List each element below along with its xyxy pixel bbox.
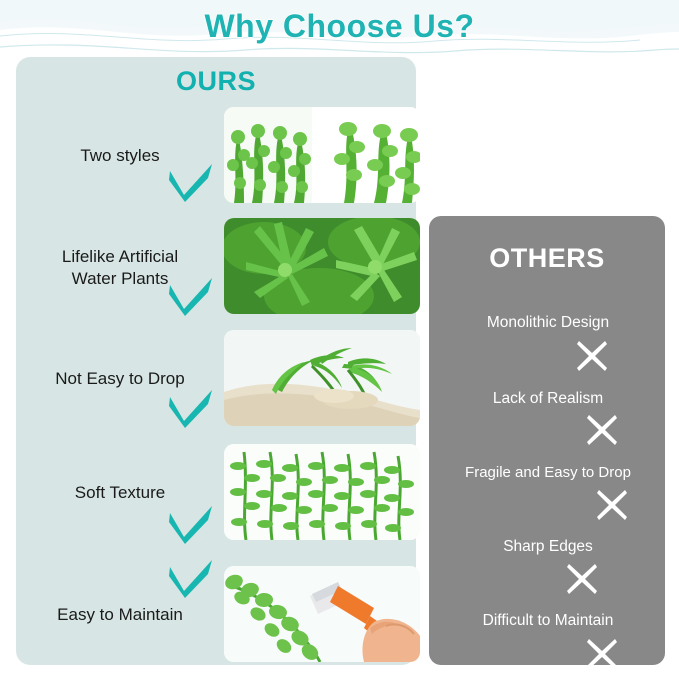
others-panel [429,216,665,665]
check-icon [168,558,214,598]
ours-heading: OURS [16,66,416,97]
ours-row-photo [224,218,420,314]
ours-row-photo [224,107,420,203]
others-row-label: Lack of Realism [437,389,659,409]
others-heading: OTHERS [429,243,665,274]
others-row-label: Fragile and Easy to Drop [437,463,659,483]
cross-icon [595,488,629,522]
cross-icon [585,413,619,447]
cross-icon [585,637,619,671]
others-row-label: Sharp Edges [437,537,659,557]
ours-row-label: Soft Texture [28,482,212,504]
check-icon [168,388,214,428]
check-icon [168,276,214,316]
others-row-label: Difficult to Maintain [437,611,659,631]
ours-row-label: Easy to Maintain [28,604,212,626]
check-icon [168,504,214,544]
ours-row-photo [224,566,420,662]
ours-row-photo [224,444,420,540]
cross-icon [575,339,609,373]
ours-row: Easy to Maintain [28,558,410,654]
ours-row-photo [224,330,420,426]
ours-row: Not Easy to Drop [28,330,410,426]
ours-row: Soft Texture [28,444,410,540]
page-title: Why Choose Us? [0,8,679,45]
ours-row: Lifelike Artificial Water Plants [28,218,410,314]
others-row-label: Monolithic Design [437,313,659,333]
ours-row-label: Not Easy to Drop [28,368,212,390]
check-icon [168,162,214,202]
ours-row: Two styles [28,107,410,203]
cross-icon [565,562,599,596]
